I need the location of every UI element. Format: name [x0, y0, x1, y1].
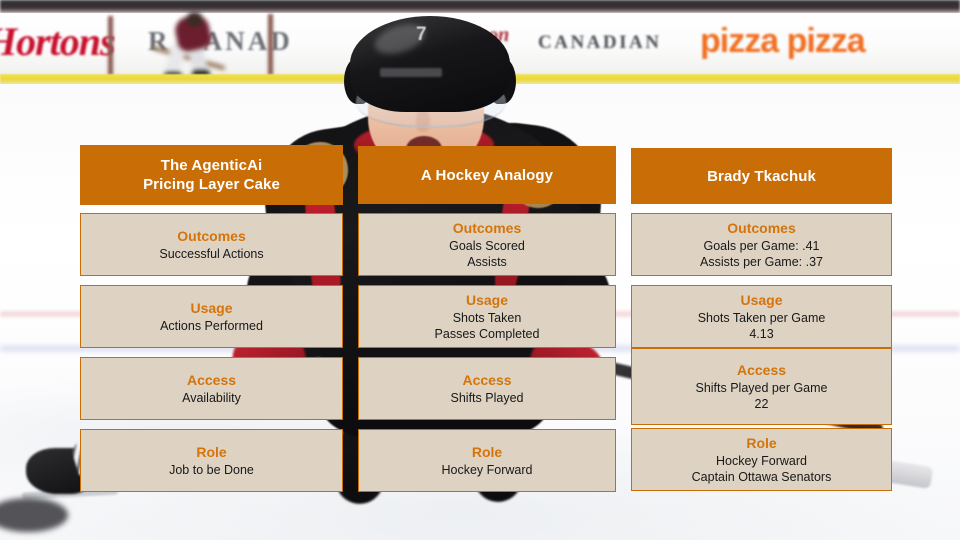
cell-value-line1: Shifts Played per Game	[695, 380, 827, 396]
cell-label: Outcomes	[177, 227, 245, 245]
column-header-line1: The AgenticAi	[161, 156, 263, 175]
cell-value-line2: 22	[755, 396, 769, 412]
cell-value-line1: Shots Taken per Game	[698, 310, 826, 326]
pricing-layer-cake-table: The AgenticAi Pricing Layer Cake Outcome…	[0, 0, 960, 540]
cell-label: Outcomes	[727, 219, 795, 237]
cell-hockey-role[interactable]: Role Hockey Forward	[358, 429, 616, 492]
cell-hockey-outcomes[interactable]: Outcomes Goals Scored Assists	[358, 213, 616, 276]
slide-canvas: Hortons R CANAD Molson CANADIAN pizza pi…	[0, 0, 960, 540]
cell-value-line1: Hockey Forward	[442, 462, 533, 478]
cell-value-line1: Shots Taken	[453, 310, 522, 326]
cell-label: Outcomes	[453, 219, 521, 237]
cell-value-line1: Job to be Done	[169, 462, 254, 478]
cell-value-line2: Assists	[467, 254, 507, 270]
cell-label: Role	[746, 434, 776, 452]
cell-brady-access[interactable]: Access Shifts Played per Game 22	[631, 348, 892, 425]
column-header-line1: A Hockey Analogy	[421, 166, 553, 185]
cell-brady-usage[interactable]: Usage Shots Taken per Game 4.13	[631, 285, 892, 348]
cell-agentic-ai-usage[interactable]: Usage Actions Performed	[80, 285, 343, 348]
cell-agentic-ai-outcomes[interactable]: Outcomes Successful Actions	[80, 213, 343, 276]
cell-value-line2: Passes Completed	[435, 326, 540, 342]
cell-value-line2: Assists per Game: .37	[700, 254, 823, 270]
cell-label: Usage	[466, 291, 508, 309]
cell-value-line1: Hockey Forward	[716, 453, 807, 469]
cell-label: Usage	[740, 291, 782, 309]
cell-label: Access	[187, 371, 236, 389]
cell-value-line1: Availability	[182, 390, 241, 406]
cell-label: Role	[472, 443, 502, 461]
cell-value-line1: Shifts Played	[451, 390, 524, 406]
cell-value-line1: Successful Actions	[159, 246, 263, 262]
cell-agentic-ai-role[interactable]: Role Job to be Done	[80, 429, 343, 492]
cell-value-line2: Captain Ottawa Senators	[692, 469, 832, 485]
cell-value-line2: 4.13	[749, 326, 773, 342]
cell-hockey-access[interactable]: Access Shifts Played	[358, 357, 616, 420]
cell-label: Access	[737, 361, 786, 379]
cell-agentic-ai-access[interactable]: Access Availability	[80, 357, 343, 420]
cell-label: Role	[196, 443, 226, 461]
cell-hockey-usage[interactable]: Usage Shots Taken Passes Completed	[358, 285, 616, 348]
cell-value-line1: Goals per Game: .41	[703, 238, 819, 254]
cell-brady-role[interactable]: Role Hockey Forward Captain Ottawa Senat…	[631, 428, 892, 491]
column-header-line2: Pricing Layer Cake	[143, 175, 280, 194]
cell-value-line1: Goals Scored	[449, 238, 525, 254]
column-header-agentic-ai[interactable]: The AgenticAi Pricing Layer Cake	[80, 145, 343, 205]
cell-value-line1: Actions Performed	[160, 318, 263, 334]
cell-label: Access	[462, 371, 511, 389]
column-header-hockey-analogy[interactable]: A Hockey Analogy	[358, 146, 616, 204]
column-header-line1: Brady Tkachuk	[707, 167, 816, 186]
cell-label: Usage	[190, 299, 232, 317]
cell-brady-outcomes[interactable]: Outcomes Goals per Game: .41 Assists per…	[631, 213, 892, 276]
column-header-brady-tkachuk[interactable]: Brady Tkachuk	[631, 148, 892, 204]
